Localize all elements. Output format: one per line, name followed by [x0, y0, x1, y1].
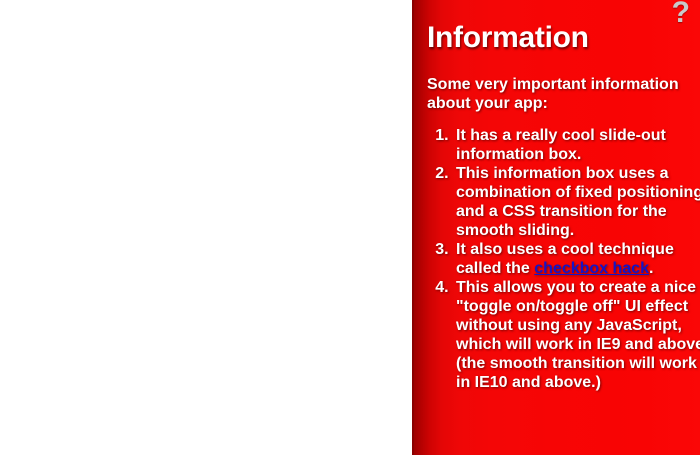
app-root: ? Information Some very important inform… — [0, 0, 700, 455]
checkbox-hack-link[interactable]: checkbox hack — [534, 260, 649, 277]
question-mark-icon[interactable]: ? — [672, 0, 690, 30]
list-item: It also uses a cool technique called the… — [453, 240, 700, 278]
list-item-text: This information box uses a combination … — [456, 165, 700, 239]
information-list: It has a really cool slide-out informati… — [427, 126, 700, 392]
list-item: It has a really cool slide-out informati… — [453, 126, 700, 164]
page-canvas — [0, 0, 412, 455]
panel-left-edge — [412, 0, 414, 455]
list-item: This allows you to create a nice "toggle… — [453, 278, 700, 392]
information-panel: ? Information Some very important inform… — [412, 0, 700, 455]
list-item-text: This allows you to create a nice "toggle… — [456, 279, 700, 391]
page-title: Information — [427, 22, 589, 54]
panel-intro-text: Some very important information about yo… — [427, 75, 687, 113]
list-item-text: It has a really cool slide-out informati… — [456, 127, 666, 163]
list-item-text-tail: . — [649, 260, 653, 277]
list-item: This information box uses a combination … — [453, 164, 700, 240]
